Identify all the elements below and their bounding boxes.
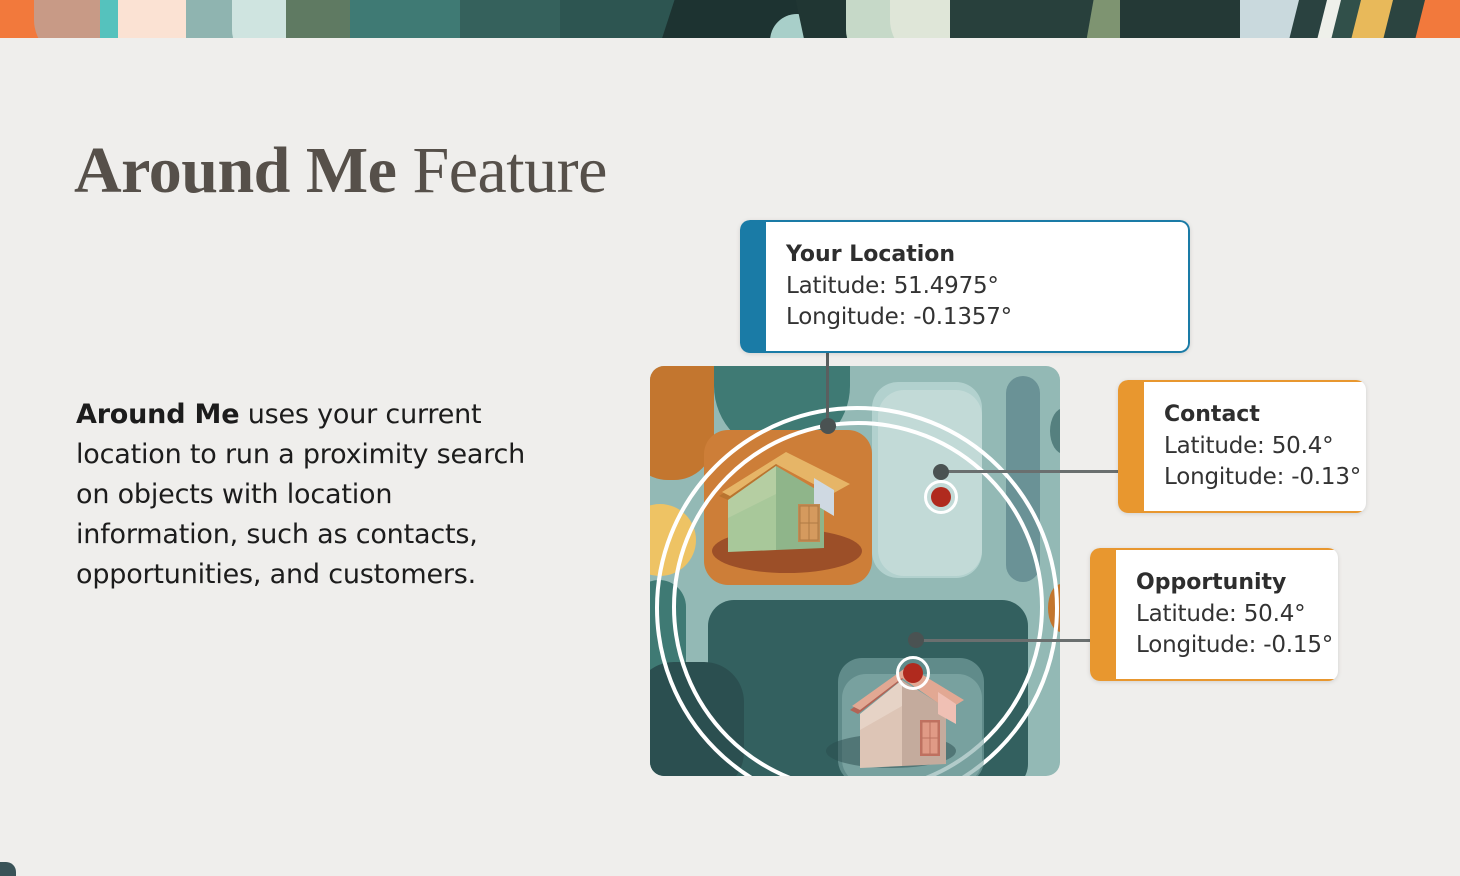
card-your-location[interactable]: Your Location Latitude: 51.4975° Longitu… [740,220,1190,353]
contact-marker[interactable] [924,480,958,514]
card-title-contact: Contact [1164,400,1361,430]
card-body-opportunity: Opportunity Latitude: 50.4° Longitude: -… [1116,548,1338,681]
page-title: Around Me Feature [74,132,607,210]
card-longitude-your-location: Longitude: -0.1357° [786,302,1166,333]
opportunity-marker[interactable] [896,656,930,690]
card-latitude-opportunity: Latitude: 50.4° [1136,599,1333,630]
card-accent-bar-contact [1118,380,1144,513]
card-latitude-your-location: Latitude: 51.4975° [786,271,1166,302]
card-latitude-contact: Latitude: 50.4° [1164,431,1361,462]
connector-opportunity [916,639,1092,642]
slide-root: Around Me Feature Around Me uses your cu… [0,0,1460,876]
card-title-opportunity: Opportunity [1136,568,1333,598]
connector-contact [940,470,1120,473]
card-contact[interactable]: Contact Latitude: 50.4° Longitude: -0.13… [1118,380,1366,513]
card-accent-bar-your-location [740,220,766,353]
band-shape-10 [560,0,680,38]
connector-dot-your-location [820,418,836,434]
page-title-regular: Feature [396,134,606,207]
connector-dot-contact [933,464,949,480]
card-body-contact: Contact Latitude: 50.4° Longitude: -0.13… [1144,380,1366,513]
intro-lead: Around Me [76,399,239,430]
card-body-your-location: Your Location Latitude: 51.4975° Longitu… [766,220,1190,353]
connector-dot-opportunity [908,632,924,648]
band-shape-8 [350,0,470,38]
card-opportunity[interactable]: Opportunity Latitude: 50.4° Longitude: -… [1090,548,1338,681]
intro-paragraph: Around Me uses your current location to … [76,395,546,595]
card-accent-bar-opportunity [1090,548,1116,681]
proximity-map-illustration[interactable] [650,366,1060,776]
map-block-right-circle [1050,408,1060,454]
corner-decoration [0,862,16,876]
page-title-bold: Around Me [74,134,396,207]
top-decorative-band [0,0,1460,38]
card-title-your-location: Your Location [786,240,1166,270]
card-longitude-contact: Longitude: -0.13° [1164,462,1361,493]
card-longitude-opportunity: Longitude: -0.15° [1136,630,1333,661]
